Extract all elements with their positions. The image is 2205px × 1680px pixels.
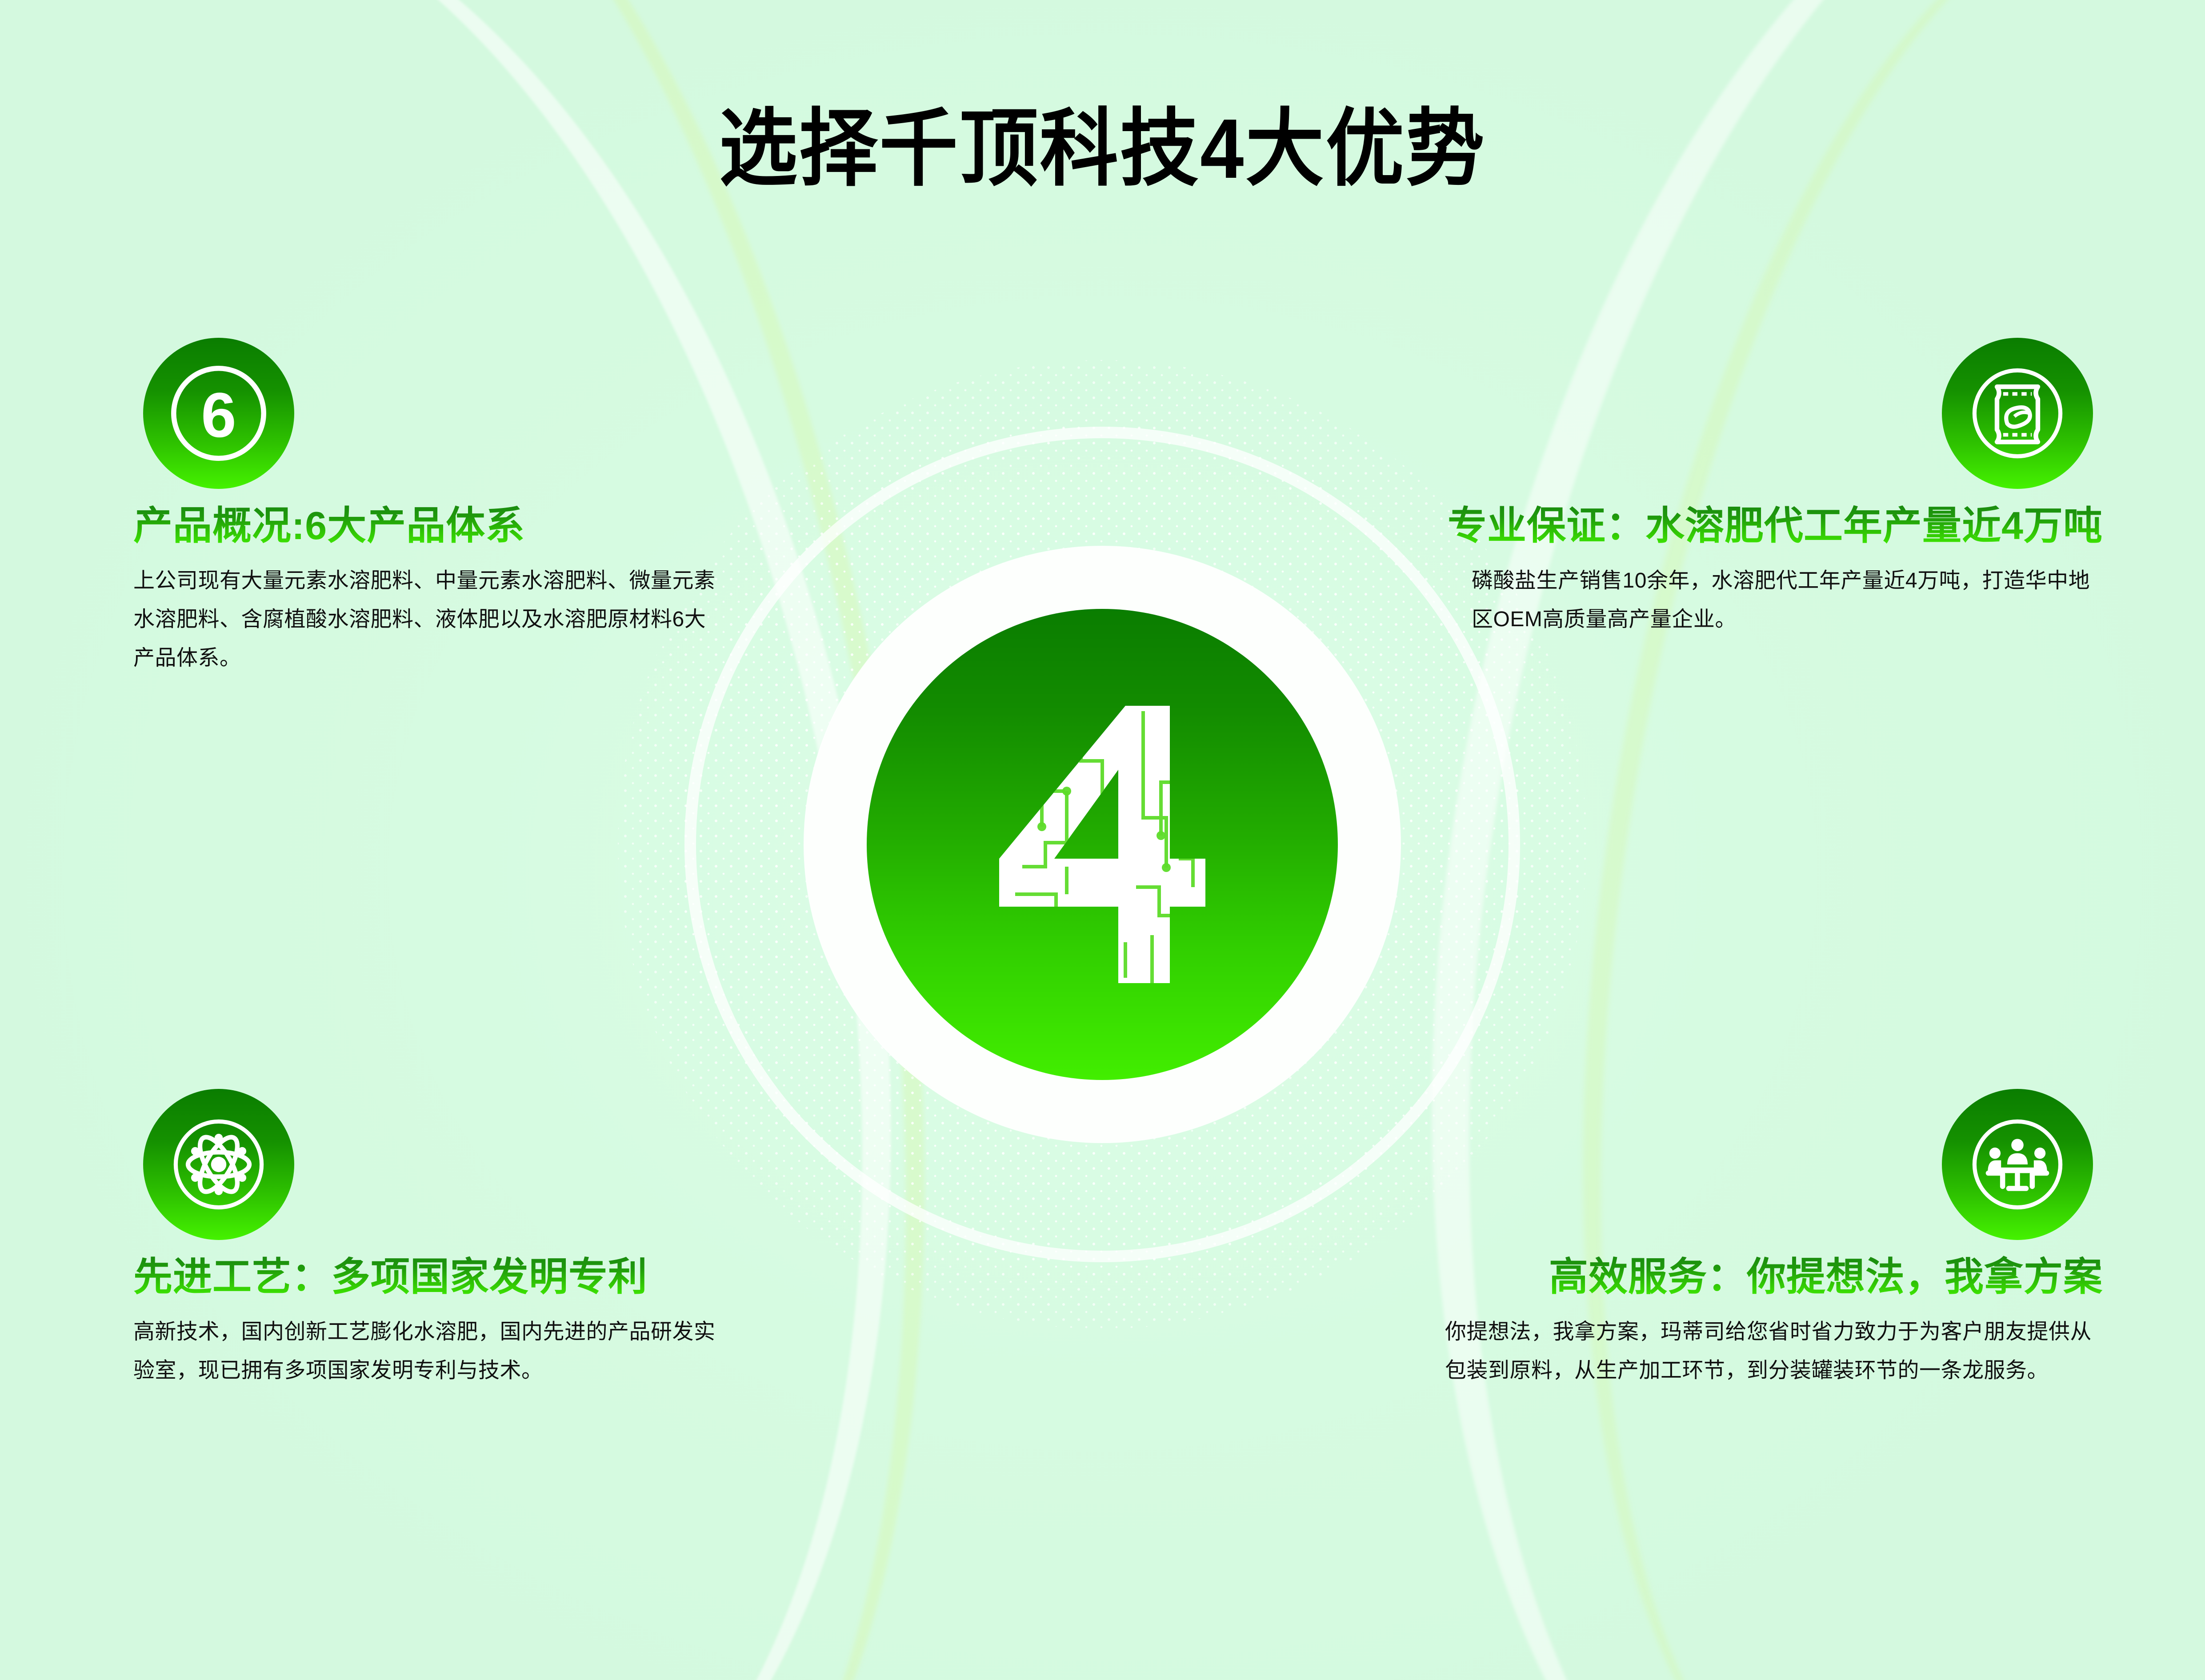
fertilizer-bag-badge bbox=[1942, 338, 2093, 489]
page-title: 选择千顶科技4大优势 bbox=[77, 107, 2128, 191]
atom-badge bbox=[143, 1089, 294, 1240]
advantage-body: 高新技术，国内创新工艺膨化水溶肥，国内先进的产品研发实验室，现已拥有多项国家发明… bbox=[133, 1312, 720, 1390]
advantage-title: 产品概况:6大产品体系 bbox=[133, 504, 791, 548]
atom-icon bbox=[168, 1113, 270, 1216]
advantage-card-bottom-right: 高效服务：你提想法，我拿方案 你提想法，我拿方案，玛蒂司给您省时省力致力于为客户… bbox=[1409, 1089, 2103, 1390]
number-six-icon: 6 bbox=[168, 362, 270, 464]
advantage-body: 磷酸盐生产销售10余年，水溶肥代工年产量近4万吨，打造华中地区OEM高质量高产量… bbox=[1472, 561, 2103, 639]
advantage-title: 专业保证：水溶肥代工年产量近4万吨 bbox=[1409, 504, 2103, 548]
infographic-canvas: 选择千顶科技4大优势 bbox=[0, 0, 2205, 1680]
advantage-body: 你提想法，我拿方案，玛蒂司给您省时省力致力于为客户朋友提供从包装到原料，从生产加… bbox=[1445, 1312, 2103, 1390]
advantage-card-bottom-left: 先进工艺：多项国家发明专利 高新技术，国内创新工艺膨化水溶肥，国内先进的产品研发… bbox=[133, 1089, 791, 1390]
svg-text:6: 6 bbox=[201, 380, 236, 451]
circuit-number-four-icon bbox=[960, 684, 1245, 1004]
meeting-table-badge bbox=[1942, 1089, 2093, 1240]
advantage-title: 先进工艺：多项国家发明专利 bbox=[133, 1255, 791, 1299]
advantage-title: 高效服务：你提想法，我拿方案 bbox=[1409, 1255, 2103, 1299]
number-six-badge: 6 bbox=[143, 338, 294, 489]
fertilizer-bag-icon bbox=[1966, 362, 2069, 464]
center-core-disc bbox=[867, 609, 1338, 1080]
meeting-table-icon bbox=[1966, 1113, 2069, 1216]
advantage-card-top-right: 专业保证：水溶肥代工年产量近4万吨 磷酸盐生产销售10余年，水溶肥代工年产量近4… bbox=[1409, 338, 2103, 639]
advantage-card-top-left: 6 产品概况:6大产品体系 上公司现有大量元素水溶肥料、中量元素水溶肥料、微量元… bbox=[133, 338, 791, 678]
advantage-body: 上公司现有大量元素水溶肥料、中量元素水溶肥料、微量元素水溶肥料、含腐植酸水溶肥料… bbox=[133, 561, 720, 678]
